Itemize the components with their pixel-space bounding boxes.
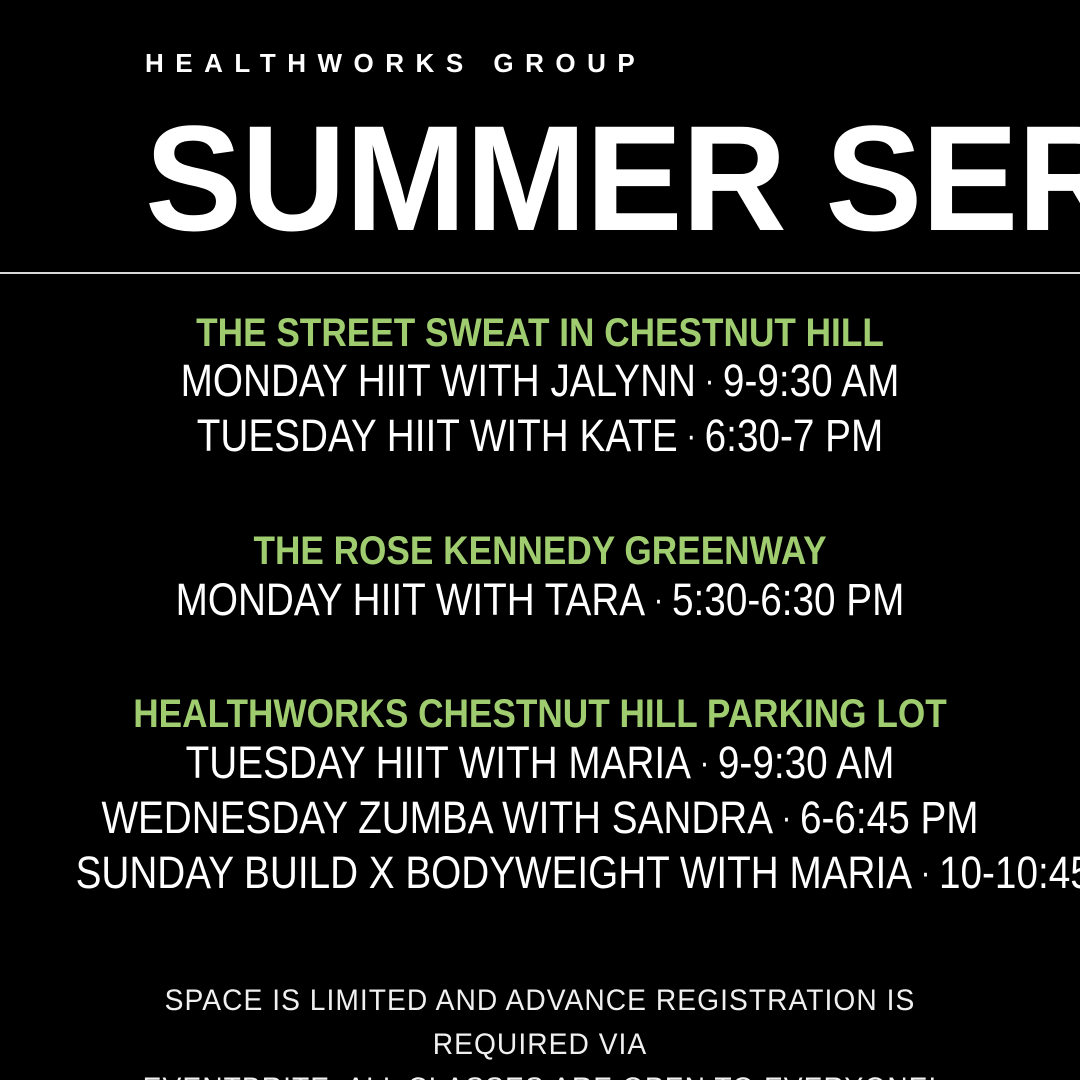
poster-body: THE STREET SWEAT IN CHESTNUT HILL MONDAY… — [0, 274, 1080, 1080]
separator-dot: · — [691, 743, 718, 784]
separator-dot: · — [696, 361, 723, 402]
section-heading: THE STREET SWEAT IN CHESTNUT HILL — [65, 312, 1015, 354]
schedule-line-label: TUESDAY HIIT WITH MARIA — [186, 737, 691, 788]
separator-dot: · — [773, 798, 800, 839]
schedule-section: THE STREET SWEAT IN CHESTNUT HILL MONDAY… — [0, 312, 1080, 464]
schedule-line: WEDNESDAY ZUMBA WITH SANDRA·6-6:45 PM — [76, 791, 1005, 846]
separator-dot: · — [678, 416, 705, 457]
schedule-line-time: 10-10:45 AM — [939, 847, 1080, 898]
schedule-line-time: 6:30-7 PM — [705, 410, 884, 461]
schedule-line-time: 9-9:30 AM — [718, 737, 894, 788]
section-heading: THE ROSE KENNEDY GREENWAY — [65, 530, 1015, 572]
schedule-line-label: WEDNESDAY ZUMBA WITH SANDRA — [101, 792, 773, 843]
footer-note: SPACE IS LIMITED AND ADVANCE REGISTRATIO… — [90, 979, 990, 1080]
footer-line-2: EVENTBRITE. ALL CLASSES ARE OPEN TO EVER… — [117, 1067, 963, 1080]
schedule-section: HEALTHWORKS CHESTNUT HILL PARKING LOT TU… — [0, 693, 1080, 900]
schedule-line-time: 6-6:45 PM — [800, 792, 979, 843]
summer-series-poster: HEALTHWORKS GROUP SUMMER SERIES THE STRE… — [0, 0, 1080, 1080]
schedule-line-time: 9-9:30 AM — [723, 355, 899, 406]
schedule-line-label: TUESDAY HIIT WITH KATE — [197, 410, 678, 461]
schedule-line: TUESDAY HIIT WITH MARIA·9-9:30 AM — [76, 736, 1005, 791]
poster-header: HEALTHWORKS GROUP SUMMER SERIES — [0, 0, 1080, 274]
page-title: SUMMER SERIES — [145, 108, 911, 248]
schedule-line: MONDAY HIIT WITH TARA·5:30-6:30 PM — [76, 573, 1005, 628]
schedule-line-time: 5:30-6:30 PM — [672, 574, 904, 625]
schedule-line: TUESDAY HIIT WITH KATE·6:30-7 PM — [76, 409, 1005, 464]
schedule-line: SUNDAY BUILD X BODYWEIGHT WITH MARIA·10-… — [76, 846, 1005, 901]
schedule-line-label: MONDAY HIIT WITH TARA — [176, 574, 645, 625]
brand-name: HEALTHWORKS GROUP — [145, 50, 646, 76]
schedule-line-label: SUNDAY BUILD X BODYWEIGHT WITH MARIA — [76, 847, 912, 898]
schedule-line-label: MONDAY HIIT WITH JALYNN — [181, 355, 696, 406]
separator-dot: · — [645, 580, 672, 621]
footer-line-1: SPACE IS LIMITED AND ADVANCE REGISTRATIO… — [117, 979, 963, 1068]
separator-dot: · — [912, 853, 939, 894]
schedule-line: MONDAY HIIT WITH JALYNN·9-9:30 AM — [76, 354, 1005, 409]
section-heading: HEALTHWORKS CHESTNUT HILL PARKING LOT — [65, 693, 1015, 735]
schedule-section: THE ROSE KENNEDY GREENWAY MONDAY HIIT WI… — [0, 530, 1080, 627]
